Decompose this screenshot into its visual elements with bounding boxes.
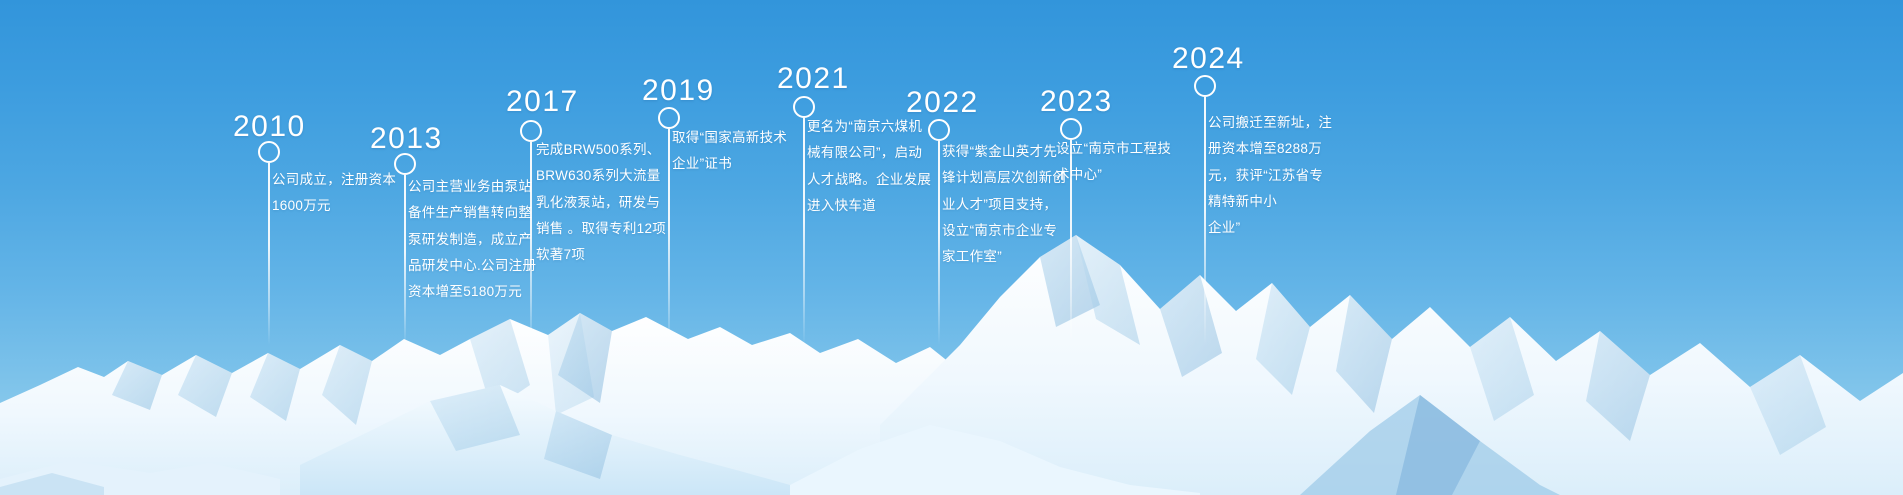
circle-marker-icon[interactable] xyxy=(928,119,950,141)
circle-marker-icon[interactable] xyxy=(1194,75,1216,97)
timeline-description: 完成BRW500系列、 BRW630系列大流量 乳化液泵站，研发与 销售 。取得… xyxy=(536,137,672,269)
timeline-stem-line xyxy=(938,141,940,345)
timeline-year-label: 2013 xyxy=(370,122,443,156)
timeline-description: 公司主营业务由泵站 备件生产销售转向整 泵研发制造，成立产 品研发中心.公司注册… xyxy=(408,174,540,306)
timeline-year-label: 2024 xyxy=(1172,42,1245,76)
timeline-description: 更名为“南京六煤机 械有限公司”，启动 人才战略。企业发展 进入快车道 xyxy=(807,114,939,219)
timeline-stem-line xyxy=(1204,97,1206,345)
timeline-stem-line xyxy=(668,129,670,345)
timeline-year-label: 2019 xyxy=(642,74,715,108)
timeline-stem-line xyxy=(268,163,270,345)
timeline-year-label: 2021 xyxy=(777,62,850,96)
timeline-description: 获得“紫金山英才先 锋计划高层次创新创 业人才”项目支持， 设立“南京市企业专 … xyxy=(942,139,1074,271)
timeline-stem-line xyxy=(530,142,532,345)
timeline-stem-line xyxy=(404,175,406,345)
circle-marker-icon[interactable] xyxy=(394,153,416,175)
timeline-year-label: 2023 xyxy=(1040,85,1113,119)
snow-mountain-background-image xyxy=(0,235,1903,495)
timeline-stem-line xyxy=(803,118,805,345)
timeline-description: 公司成立，注册资本 1600万元 xyxy=(272,167,404,220)
timeline-description: 公司搬迁至新址，注 册资本增至8288万 元，获评“江苏省专 精特新中小 企业” xyxy=(1208,110,1346,242)
timeline-year-label: 2022 xyxy=(906,86,979,120)
timeline-infographic: 2010公司成立，注册资本 1600万元2013公司主营业务由泵站 备件生产销售… xyxy=(0,0,1903,495)
circle-marker-icon[interactable] xyxy=(258,141,280,163)
timeline-description: 设立“南京市工程技 术中心” xyxy=(1056,136,1188,189)
timeline-description: 取得“国家高新技术 企业”证书 xyxy=(672,125,804,178)
timeline-year-label: 2010 xyxy=(233,110,306,144)
timeline-year-label: 2017 xyxy=(506,85,579,119)
